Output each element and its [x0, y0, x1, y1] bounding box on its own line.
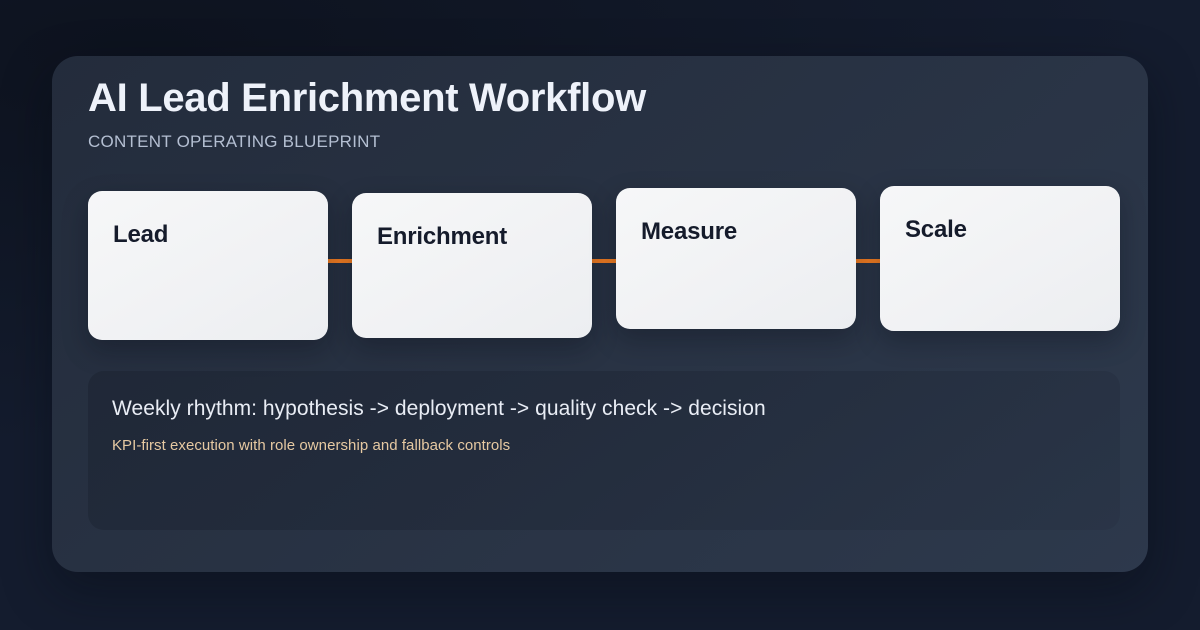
header: AI Lead Enrichment Workflow CONTENT OPER…: [88, 76, 1088, 152]
step-card-enrichment[interactable]: Enrichment: [352, 193, 592, 338]
main-panel: AI Lead Enrichment Workflow CONTENT OPER…: [52, 56, 1148, 572]
step-label: Enrichment: [377, 223, 507, 251]
step-card-scale[interactable]: Scale: [880, 186, 1120, 331]
step-connector-2: [591, 259, 617, 263]
note-primary-text: Weekly rhythm: hypothesis -> deployment …: [112, 397, 766, 421]
footer-note-panel: Weekly rhythm: hypothesis -> deployment …: [88, 371, 1120, 530]
step-connector-3: [855, 259, 881, 263]
note-secondary-text: KPI-first execution with role ownership …: [112, 437, 510, 454]
page-subtitle: CONTENT OPERATING BLUEPRINT: [88, 132, 1088, 152]
step-label: Scale: [905, 216, 967, 244]
step-card-lead[interactable]: Lead: [88, 191, 328, 340]
step-label: Lead: [113, 221, 168, 249]
step-card-measure[interactable]: Measure: [616, 188, 856, 329]
step-label: Measure: [641, 218, 737, 246]
workflow-steps: LeadEnrichmentMeasureScale: [88, 186, 1124, 346]
step-connector-1: [327, 259, 353, 263]
page-title: AI Lead Enrichment Workflow: [88, 76, 1088, 121]
